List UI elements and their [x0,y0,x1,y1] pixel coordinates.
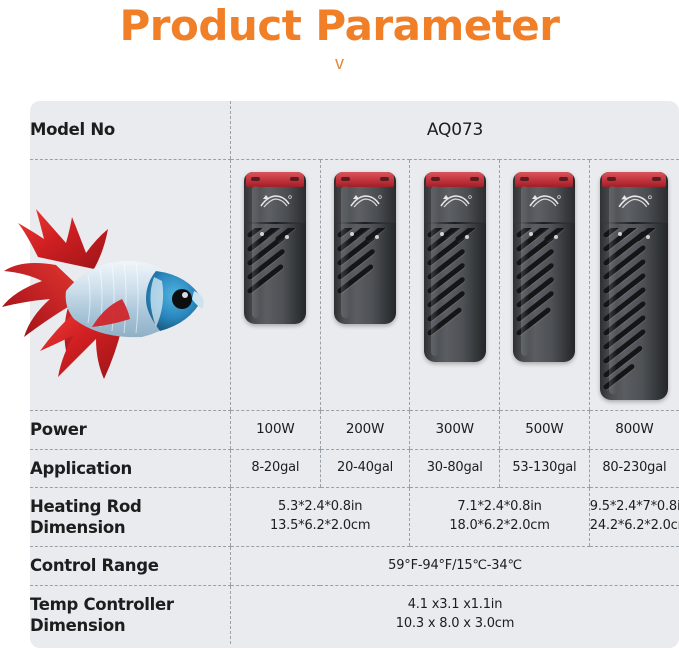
application-value-800w: 80-230gal [589,450,679,488]
table-row-control-range: Control Range 59°F-94°F/15℃-34℃ [30,547,679,586]
product-image-100w [231,160,321,411]
heater-red-cap [246,172,304,187]
row-label-model-no: Model No [30,101,231,160]
row-label-line1: Heating Rod [30,497,142,516]
heater-300w [424,172,486,362]
brand-logo-icon [258,193,292,210]
heater-800w [600,172,668,400]
heater-500w [513,172,575,362]
product-image-500w [500,160,590,411]
rod-dimension-inches: 5.3*2.4*0.8in [231,498,409,517]
heater-seam [516,222,572,224]
power-value-500w: 500W [500,411,590,450]
heater-body [600,172,668,400]
rod-dimension-group-3: 9.5*2.4*7*0.8in 24.2*6.2*2.0cm [589,488,679,547]
row-label-power: Power [30,411,231,450]
temp-dimension-cm: 10.3 x 8.0 x 3.0cm [231,615,679,634]
heater-body [334,172,396,324]
heater-body [424,172,486,362]
row-label-line2: Dimension [30,616,125,635]
table-row-model-no: Model No AQ073 [30,101,679,160]
row-label-line2: Dimension [30,518,125,537]
rod-dimension-cm: 18.0*6.2*2.0cm [410,517,588,536]
heater-seam [247,222,303,224]
power-value-800w: 800W [589,411,679,450]
table-row-temp-controller-dimension: Temp Controller Dimension 4.1 x3.1 x1.1i… [30,586,679,645]
table-row-application: Application 8-20gal 20-40gal 30-80gal 53… [30,450,679,488]
chevron-down-icon: v [335,54,344,72]
power-value-300w: 300W [410,411,500,450]
rod-dimension-group-2: 7.1*2.4*0.8in 18.0*6.2*2.0cm [410,488,589,547]
product-parameter-table-panel: Model No AQ073 [30,101,679,648]
heater-seam [603,222,665,224]
row-label-temp-controller-dimension: Temp Controller Dimension [30,586,231,645]
application-value-500w: 53-130gal [500,450,590,488]
parameter-table: Model No AQ073 [30,101,679,644]
heater-vents [424,228,486,358]
brand-logo-icon [616,193,652,211]
rod-dimension-cm: 24.2*6.2*2.0cm [590,517,679,536]
rod-dimension-group-1: 5.3*2.4*0.8in 13.5*6.2*2.0cm [231,488,410,547]
application-value-300w: 30-80gal [410,450,500,488]
page-title: Product Parameter [120,2,560,50]
heater-red-cap [426,172,484,187]
brand-logo-icon [438,193,472,210]
temp-dimension-inches: 4.1 x3.1 x1.1in [231,596,679,615]
application-value-200w: 20-40gal [320,450,410,488]
brand-logo-icon [348,193,382,210]
table-row-heating-rod-dimension: Heating Rod Dimension 5.3*2.4*0.8in 13.5… [30,488,679,547]
heater-body [513,172,575,362]
row-label-line1: Temp Controller [30,595,174,614]
table-row-product-images [30,160,679,411]
row-value-model-no: AQ073 [231,101,679,160]
row-label-control-range: Control Range [30,547,231,586]
row-label-heating-rod-dimension: Heating Rod Dimension [30,488,231,547]
control-range-value: 59°F-94°F/15℃-34℃ [231,547,679,586]
temp-controller-dimension-value: 4.1 x3.1 x1.1in 10.3 x 8.0 x 3.0cm [231,586,679,645]
rod-dimension-inches: 9.5*2.4*7*0.8in [590,498,679,517]
heater-red-cap [602,172,666,187]
row-label-images-empty [30,160,231,411]
rod-dimension-inches: 7.1*2.4*0.8in [410,498,588,517]
product-image-800w [589,160,679,411]
heater-vents [600,228,668,396]
page-header: Product Parameter v [0,0,679,96]
heater-seam [337,222,393,224]
heater-seam [427,222,483,224]
power-value-100w: 100W [231,411,321,450]
rod-dimension-cm: 13.5*6.2*2.0cm [231,517,409,536]
row-label-application: Application [30,450,231,488]
power-value-200w: 200W [320,411,410,450]
heater-vents [244,228,306,320]
heater-red-cap [336,172,394,187]
heater-vents [334,228,396,320]
application-value-100w: 8-20gal [231,450,321,488]
heater-red-cap [515,172,573,187]
heater-100w [244,172,306,324]
product-image-200w [320,160,410,411]
heater-vents [513,228,575,358]
heater-200w [334,172,396,324]
brand-logo-icon [527,193,561,210]
product-image-300w [410,160,500,411]
heater-body [244,172,306,324]
table-row-power: Power 100W 200W 300W 500W 800W [30,411,679,450]
